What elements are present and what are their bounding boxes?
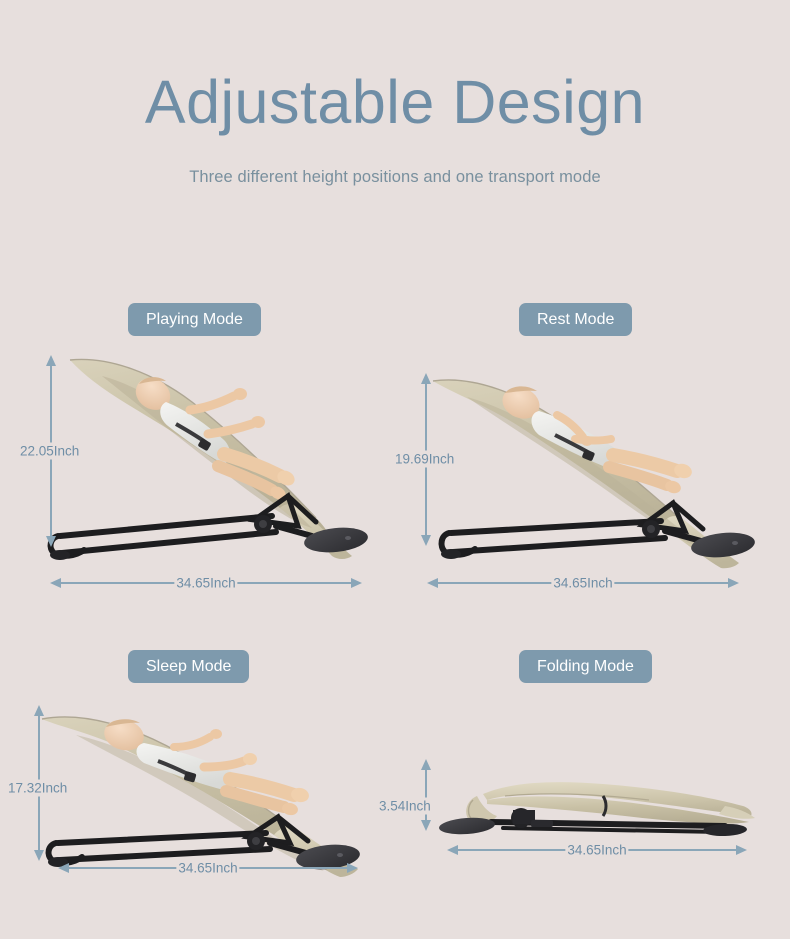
product-image-rest — [415, 363, 755, 568]
mode-label-folding: Folding Mode — [519, 650, 652, 683]
product-image-playing — [40, 350, 370, 565]
width-label-rest: 34.65Inch — [551, 575, 614, 592]
infographic-page: Adjustable Design Three different height… — [0, 0, 790, 939]
mode-cell-rest: Rest Mode — [395, 295, 790, 615]
mode-cell-playing: Playing Mode — [0, 295, 395, 615]
mode-cell-folding: Folding Mode — [395, 645, 790, 895]
product-image-folding — [425, 770, 755, 845]
width-label-folding: 34.65Inch — [565, 842, 628, 859]
product-image-sleep — [28, 697, 368, 877]
width-label-sleep: 34.65Inch — [176, 860, 239, 877]
mode-label-playing: Playing Mode — [128, 303, 261, 336]
page-subtitle: Three different height positions and one… — [0, 168, 790, 187]
page-title: Adjustable Design — [0, 72, 790, 133]
height-label-rest: 19.69Inch — [393, 451, 456, 468]
height-label-sleep: 17.32Inch — [6, 780, 69, 797]
height-label-folding: 3.54Inch — [377, 798, 433, 815]
mode-cell-sleep: Sleep Mode — [0, 645, 395, 895]
mode-label-sleep: Sleep Mode — [128, 650, 249, 683]
height-label-playing: 22.05Inch — [18, 443, 81, 460]
width-label-playing: 34.65Inch — [174, 575, 237, 592]
height-arrow-folding — [419, 759, 433, 831]
mode-label-rest: Rest Mode — [519, 303, 632, 336]
